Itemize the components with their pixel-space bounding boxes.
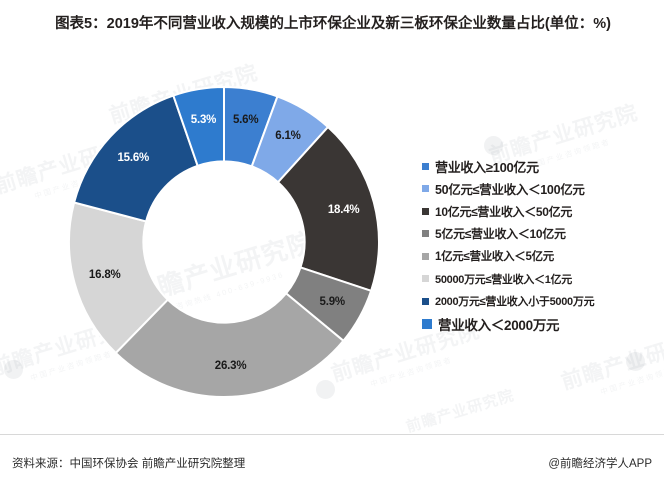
source-note: 资料来源：中国环保协会 前瞻产业研究院整理 <box>12 455 245 471</box>
legend-item[interactable]: 营业收入≥100亿元 <box>422 155 660 178</box>
chart-legend: 营业收入≥100亿元50亿元≤营业收入＜100亿元10亿元≤营业收入＜50亿元5… <box>422 155 660 335</box>
watermark-logo-icon <box>484 136 503 155</box>
donut-chart: 5.6%6.1%18.4%5.9%26.3%16.8%15.6%5.3% <box>34 72 414 412</box>
watermark-logo-icon <box>626 352 645 371</box>
legend-item[interactable]: 营业收入＜2000万元 <box>422 313 660 336</box>
legend-item[interactable]: 50000万元≤营业收入＜1亿元 <box>422 268 660 291</box>
legend-swatch-icon <box>422 275 429 282</box>
donut-slices <box>69 87 379 397</box>
legend-swatch-icon <box>422 253 429 260</box>
legend-swatch-icon <box>422 298 429 305</box>
slice-value-label: 16.8% <box>89 269 121 281</box>
slice-value-label: 5.3% <box>191 114 216 126</box>
legend-item[interactable]: 5亿元≤营业收入＜10亿元 <box>422 223 660 246</box>
slice-value-label: 5.9% <box>320 296 345 308</box>
watermark-text: 前瞻产业研究院中国产业咨询领跑者 <box>557 322 664 407</box>
legend-item-label: 营业收入≥100亿元 <box>435 157 539 176</box>
legend-item-label: 5亿元≤营业收入＜10亿元 <box>435 225 566 242</box>
legend-item-label: 50亿元≤营业收入＜100亿元 <box>435 179 585 198</box>
legend-item[interactable]: 10亿元≤营业收入＜50亿元 <box>422 200 660 223</box>
page-title: 图表5：2019年不同营业收入规模的上市环保企业及新三板环保企业数量占比(单位：… <box>38 14 628 35</box>
brand-note: @前瞻经济学人APP <box>548 455 652 471</box>
slice-value-label: 5.6% <box>233 114 258 126</box>
legend-item-label: 10亿元≤营业收入＜50亿元 <box>435 203 572 220</box>
footer-divider <box>0 434 664 435</box>
legend-swatch-icon <box>422 319 432 329</box>
legend-item[interactable]: 1亿元≤营业收入＜5亿元 <box>422 245 660 268</box>
legend-swatch-icon <box>422 208 429 215</box>
legend-swatch-icon <box>422 185 429 192</box>
legend-item-label: 2000万元≤营业收入小于5000万元 <box>435 293 594 309</box>
legend-swatch-icon <box>422 163 429 170</box>
slice-value-label: 18.4% <box>328 204 360 216</box>
slice-value-label: 6.1% <box>275 130 300 142</box>
legend-item[interactable]: 50亿元≤营业收入＜100亿元 <box>422 178 660 201</box>
legend-item[interactable]: 2000万元≤营业收入小于5000万元 <box>422 290 660 313</box>
slice-value-label: 15.6% <box>117 152 149 164</box>
watermark-text: 前瞻产业研究院 <box>403 384 516 437</box>
legend-swatch-icon <box>422 230 429 237</box>
watermark-logo-icon <box>4 360 23 379</box>
legend-item-label: 营业收入＜2000万元 <box>438 314 559 334</box>
legend-item-label: 50000万元≤营业收入＜1亿元 <box>435 271 572 287</box>
legend-item-label: 1亿元≤营业收入＜5亿元 <box>435 248 554 264</box>
slice-value-label: 26.3% <box>215 360 247 372</box>
